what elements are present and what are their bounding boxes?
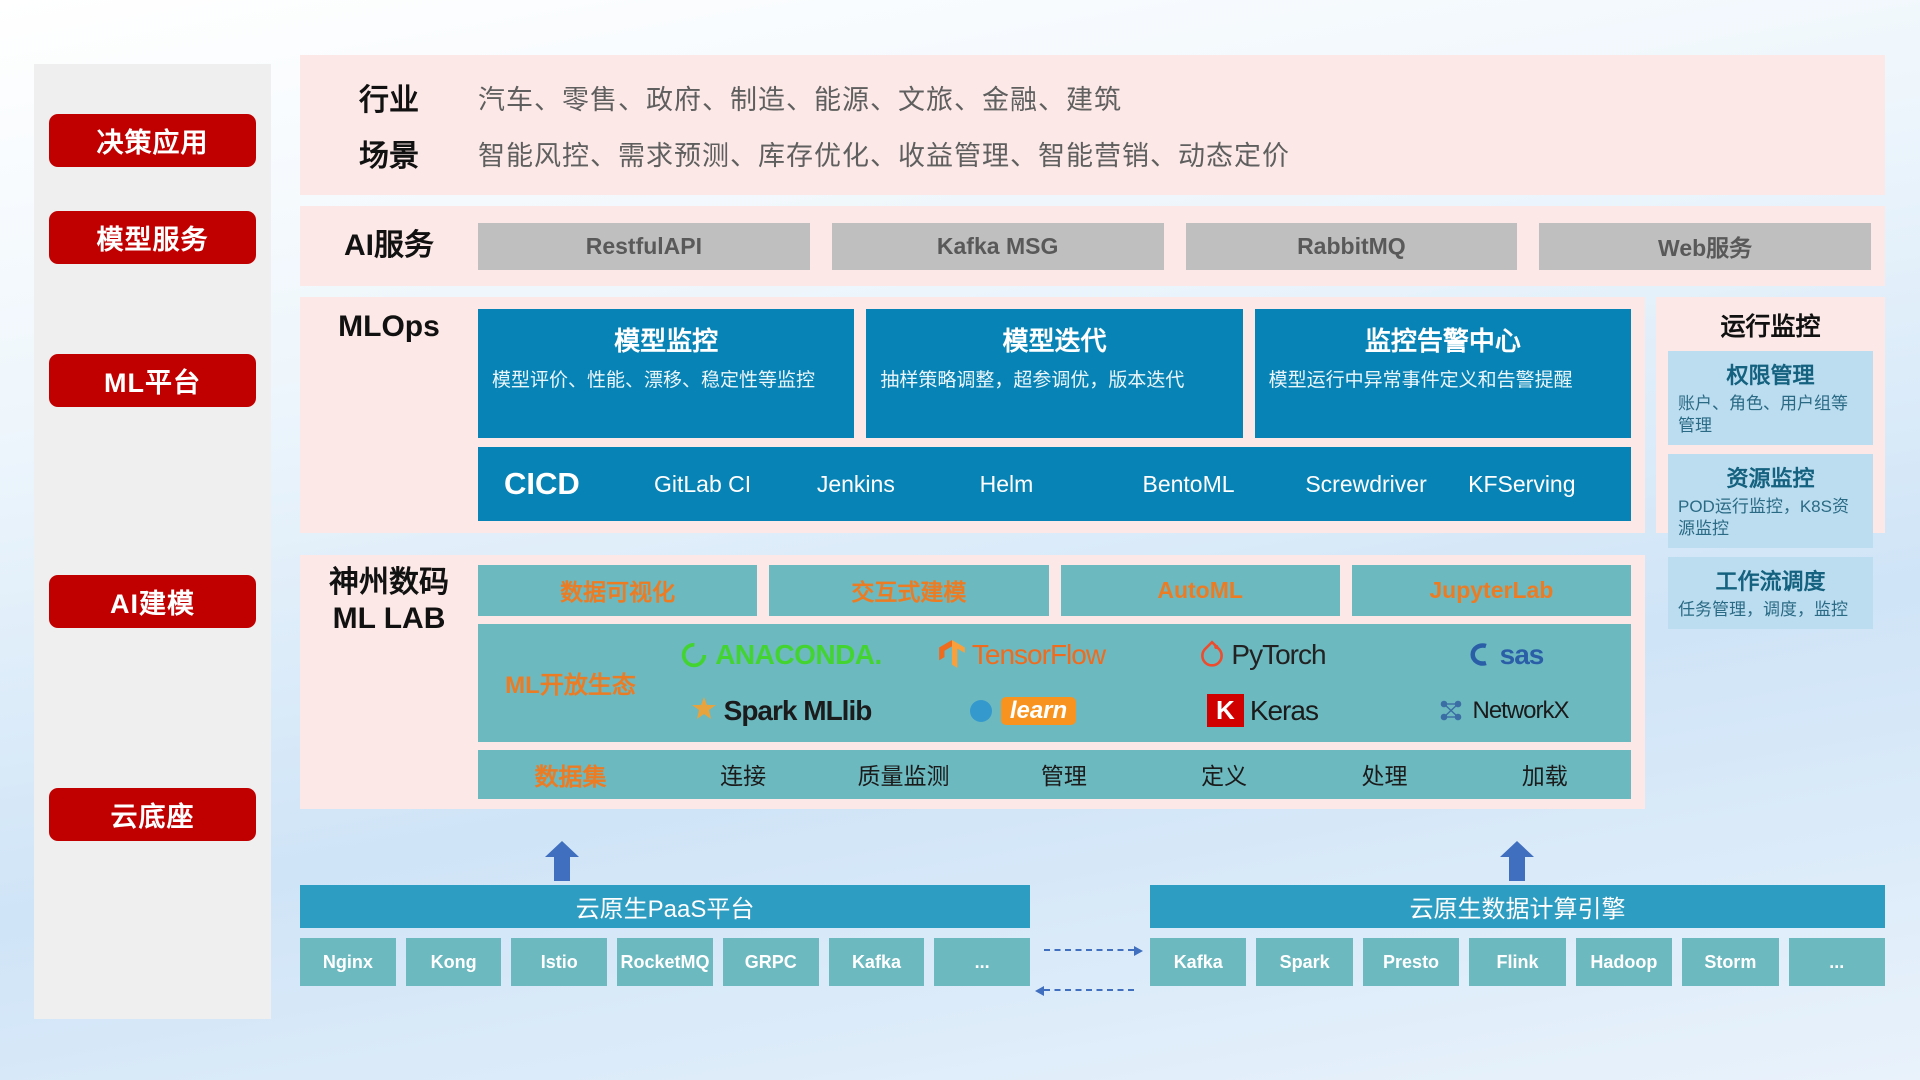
open-ecosystem-label: ML开放生态	[478, 665, 663, 700]
compute-chip-more[interactable]: ...	[1789, 938, 1885, 986]
service-chip-rabbitmq[interactable]: RabbitMQ	[1186, 223, 1518, 270]
dataset-action-process[interactable]: 处理	[1304, 757, 1464, 791]
card-description: 模型评价、性能、漂移、稳定性等监控	[492, 368, 840, 394]
lab-tab-jupyterlab[interactable]: JupyterLab	[1352, 565, 1631, 616]
logo-pytorch[interactable]: PyTorch	[1145, 628, 1380, 682]
cicd-row: CICD GitLab CI Jenkins Helm BentoML Scre…	[478, 447, 1631, 521]
decision-application-band: 行业 汽车、零售、政府、制造、能源、文旅、金融、建筑 场景 智能风控、需求预测、…	[300, 55, 1885, 195]
layer-label-ml-platform[interactable]: ML平台	[49, 354, 256, 407]
monitoring-panel-title: 运行监控	[1668, 307, 1873, 343]
lab-tab-interactive-modeling[interactable]: 交互式建模	[769, 565, 1048, 616]
ai-service-chip-list: RestfulAPI Kafka MSG RabbitMQ Web服务	[478, 223, 1885, 270]
compute-chip-flink[interactable]: Flink	[1469, 938, 1565, 986]
layer-label-cloud-base[interactable]: 云底座	[49, 788, 256, 841]
compute-engine-column: 云原生数据计算引擎 Kafka Spark Presto Flink Hadoo…	[1150, 885, 1885, 986]
logo-label: PyTorch	[1231, 639, 1325, 671]
logo-anaconda[interactable]: ANACONDA.	[663, 628, 898, 682]
paas-chip-rocketmq[interactable]: RocketMQ	[617, 938, 713, 986]
layer-label-decision-app[interactable]: 决策应用	[49, 114, 256, 167]
industry-scenario-list: 行业 汽车、零售、政府、制造、能源、文旅、金融、建筑 场景 智能风控、需求预测、…	[300, 69, 1885, 181]
compute-chip-list: Kafka Spark Presto Flink Hadoop Storm ..…	[1150, 938, 1885, 986]
paas-chip-kafka[interactable]: Kafka	[829, 938, 925, 986]
mlops-card-model-monitoring[interactable]: 模型监控 模型评价、性能、漂移、稳定性等监控	[478, 309, 854, 438]
monitor-card-permission[interactable]: 权限管理 账户、角色、用户组等管理	[1668, 351, 1873, 445]
card-title: 资源监控	[1678, 461, 1863, 493]
ecosystem-logo-grid: ANACONDA. TensorFlow	[663, 628, 1621, 738]
cicd-tool-kfserving[interactable]: KFServing	[1468, 472, 1631, 496]
industry-values: 汽车、零售、政府、制造、能源、文旅、金融、建筑	[478, 78, 1122, 117]
scenario-values: 智能风控、需求预测、库存优化、收益管理、智能营销、动态定价	[478, 134, 1290, 173]
paas-chip-istio[interactable]: Istio	[511, 938, 607, 986]
arrow-left-dashed	[1044, 989, 1134, 991]
compute-chip-storm[interactable]: Storm	[1682, 938, 1778, 986]
cicd-tool-gitlab-ci[interactable]: GitLab CI	[654, 472, 817, 496]
logo-label: learn	[1001, 697, 1076, 725]
paas-chip-kong[interactable]: Kong	[406, 938, 502, 986]
scenario-label: 场景	[300, 131, 478, 175]
runtime-monitoring-panel: 运行监控 权限管理 账户、角色、用户组等管理 资源监控 POD运行监控，K8S资…	[1656, 297, 1885, 533]
mlops-label: MLOps	[300, 309, 478, 521]
mlops-card-list: 模型监控 模型评价、性能、漂移、稳定性等监控 模型迭代 抽样策略调整，超参调优，…	[478, 309, 1631, 438]
apache-spark-icon	[690, 696, 718, 726]
cicd-tool-jenkins[interactable]: Jenkins	[817, 472, 980, 496]
pytorch-icon	[1199, 640, 1225, 670]
layer-label-model-service[interactable]: 模型服务	[49, 211, 256, 264]
layer-label-ai-modeling[interactable]: AI建模	[49, 575, 256, 628]
cicd-label: CICD	[504, 466, 654, 502]
logo-label: sas	[1500, 639, 1544, 671]
paas-column: 云原生PaaS平台 Nginx Kong Istio RocketMQ GRPC…	[300, 885, 1030, 986]
logo-keras[interactable]: K Keras	[1145, 684, 1380, 738]
keras-icon: K	[1207, 694, 1244, 727]
card-description: 账户、角色、用户组等管理	[1678, 393, 1863, 437]
logo-label: TensorFlow	[972, 639, 1105, 671]
mlops-band: MLOps 模型监控 模型评价、性能、漂移、稳定性等监控 模型迭代 抽样策略调整…	[300, 297, 1645, 533]
card-description: 抽样策略调整，超参调优，版本迭代	[880, 368, 1228, 394]
arrow-up-paas	[545, 841, 579, 881]
dataset-action-load[interactable]: 加载	[1465, 757, 1625, 791]
architecture-diagram: 决策应用 模型服务 ML平台 AI建模 云底座 行业 汽车、零售、政府、制造、能…	[0, 0, 1920, 1080]
logo-label: Keras	[1250, 695, 1318, 727]
card-description: POD运行监控，K8S资源监控	[1678, 496, 1863, 540]
ai-service-label: AI服务	[300, 228, 478, 264]
layer-label-rail: 决策应用 模型服务 ML平台 AI建模 云底座	[34, 64, 271, 1019]
dataset-action-define[interactable]: 定义	[1144, 757, 1304, 791]
paas-title-bar[interactable]: 云原生PaaS平台	[300, 885, 1030, 928]
logo-spark-mllib[interactable]: Spark MLlib	[663, 684, 898, 738]
ai-modeling-row: 神州数码 ML LAB 数据可视化 交互式建模 AutoML JupyterLa…	[300, 555, 1885, 820]
arrow-up-compute	[1500, 841, 1534, 881]
cloud-base-section: 云原生PaaS平台 Nginx Kong Istio RocketMQ GRPC…	[300, 885, 1885, 986]
lab-tab-data-visualization[interactable]: 数据可视化	[478, 565, 757, 616]
paas-chip-grpc[interactable]: GRPC	[723, 938, 819, 986]
service-chip-web-service[interactable]: Web服务	[1539, 223, 1871, 270]
dataset-action-quality[interactable]: 质量监测	[823, 757, 983, 791]
logo-sas[interactable]: sas	[1386, 628, 1621, 682]
lab-tab-automl[interactable]: AutoML	[1061, 565, 1340, 616]
ml-lab-label: 神州数码 ML LAB	[300, 565, 478, 799]
monitor-card-resource[interactable]: 资源监控 POD运行监控，K8S资源监控	[1668, 454, 1873, 548]
ml-lab-tab-list: 数据可视化 交互式建模 AutoML JupyterLab	[478, 565, 1631, 616]
paas-chip-nginx[interactable]: Nginx	[300, 938, 396, 986]
scenario-row: 场景 智能风控、需求预测、库存优化、收益管理、智能营销、动态定价	[300, 125, 1885, 181]
model-service-band: AI服务 RestfulAPI Kafka MSG RabbitMQ Web服务	[300, 206, 1885, 286]
logo-label: Spark MLlib	[724, 695, 872, 727]
paas-chip-more[interactable]: ...	[934, 938, 1030, 986]
arrow-right-dashed	[1044, 949, 1134, 951]
card-title: 监控告警中心	[1269, 321, 1617, 358]
ml-lab-band: 神州数码 ML LAB 数据可视化 交互式建模 AutoML JupyterLa…	[300, 555, 1645, 809]
compute-chip-spark[interactable]: Spark	[1256, 938, 1352, 986]
compute-chip-kafka[interactable]: Kafka	[1150, 938, 1246, 986]
card-description: 模型运行中异常事件定义和告警提醒	[1269, 368, 1617, 394]
sas-icon	[1464, 641, 1494, 669]
cicd-tool-bentoml[interactable]: BentoML	[1142, 472, 1305, 496]
anaconda-icon	[679, 640, 709, 670]
mlops-content: 模型监控 模型评价、性能、漂移、稳定性等监控 模型迭代 抽样策略调整，超参调优，…	[478, 309, 1645, 521]
cicd-tool-screwdriver[interactable]: Screwdriver	[1305, 472, 1468, 496]
card-title: 模型迭代	[880, 321, 1228, 358]
scikit-learn-icon	[967, 697, 995, 725]
industry-row: 行业 汽车、零售、政府、制造、能源、文旅、金融、建筑	[300, 69, 1885, 125]
ml-platform-row: MLOps 模型监控 模型评价、性能、漂移、稳定性等监控 模型迭代 抽样策略调整…	[300, 297, 1885, 544]
logo-scikit-learn[interactable]: learn	[904, 684, 1139, 738]
dataset-label: 数据集	[478, 757, 663, 792]
dataset-action-manage[interactable]: 管理	[984, 757, 1144, 791]
ml-lab-content: 数据可视化 交互式建模 AutoML JupyterLab ML开放生态	[478, 565, 1645, 799]
networkx-icon	[1438, 697, 1466, 725]
compute-title-bar[interactable]: 云原生数据计算引擎	[1150, 885, 1885, 928]
cicd-tool-helm[interactable]: Helm	[980, 472, 1143, 496]
mlops-card-model-iteration[interactable]: 模型迭代 抽样策略调整，超参调优，版本迭代	[866, 309, 1242, 438]
dataset-action-connect[interactable]: 连接	[663, 757, 823, 791]
paas-chip-list: Nginx Kong Istio RocketMQ GRPC Kafka ...	[300, 938, 1030, 986]
card-title: 模型监控	[492, 321, 840, 358]
compute-chip-presto[interactable]: Presto	[1363, 938, 1459, 986]
dataset-row: 数据集 连接 质量监测 管理 定义 处理 加载	[478, 750, 1631, 799]
ml-lab-label-line2: ML LAB	[304, 601, 474, 637]
service-chip-kafka-msg[interactable]: Kafka MSG	[832, 223, 1164, 270]
open-ecosystem-row: ML开放生态 ANACONDA.	[478, 624, 1631, 742]
logo-networkx[interactable]: NetworkX	[1386, 684, 1621, 738]
interconnect-arrows	[1030, 885, 1150, 986]
service-chip-restful-api[interactable]: RestfulAPI	[478, 223, 810, 270]
main-stack: 行业 汽车、零售、政府、制造、能源、文旅、金融、建筑 场景 智能风控、需求预测、…	[300, 55, 1885, 820]
logo-label: NetworkX	[1472, 697, 1568, 725]
logo-tensorflow[interactable]: TensorFlow	[904, 628, 1139, 682]
mlops-card-alert-center[interactable]: 监控告警中心 模型运行中异常事件定义和告警提醒	[1255, 309, 1631, 438]
logo-label: ANACONDA.	[715, 639, 882, 671]
compute-chip-hadoop[interactable]: Hadoop	[1576, 938, 1672, 986]
tensorflow-icon	[938, 640, 966, 670]
card-title: 权限管理	[1678, 358, 1863, 390]
industry-label: 行业	[300, 75, 478, 119]
ml-lab-label-line1: 神州数码	[304, 565, 474, 601]
